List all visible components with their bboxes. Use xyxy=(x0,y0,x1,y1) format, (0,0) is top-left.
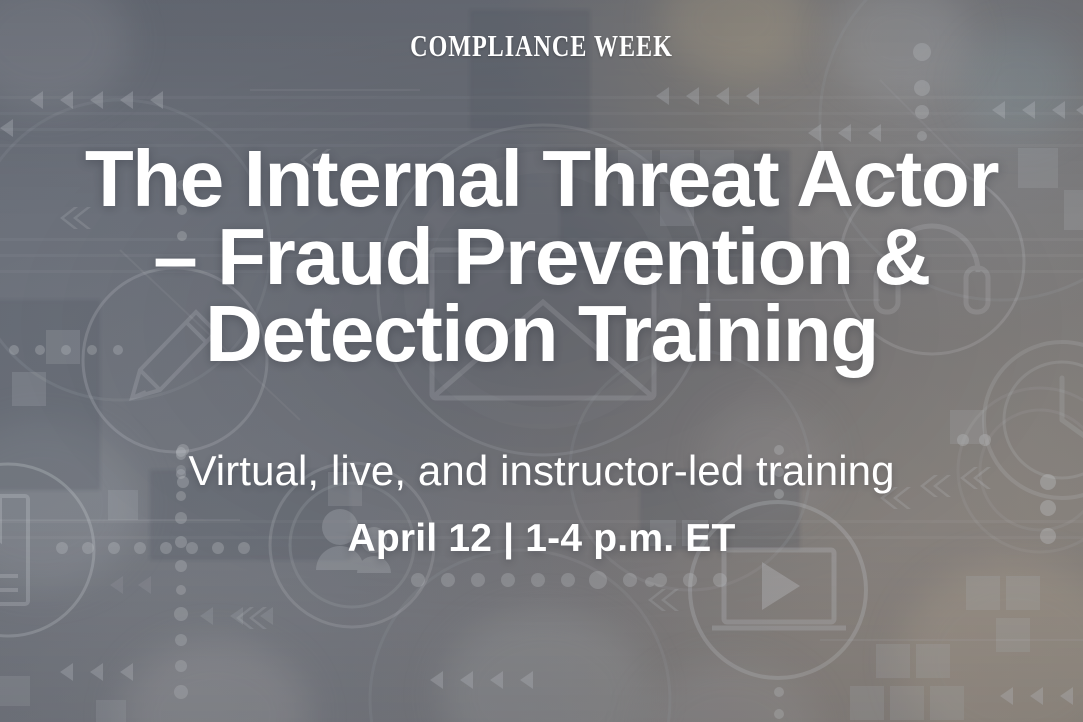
subtitle-text: Virtual, live, and instructor-led traini… xyxy=(188,447,894,495)
title-line-3: Detection Training xyxy=(22,295,1062,373)
title-line-1: The Internal Threat Actor xyxy=(22,140,1062,218)
event-date-time: April 12 | 1-4 p.m. ET xyxy=(347,517,735,561)
page-title: The Internal Threat Actor – Fraud Preven… xyxy=(22,140,1062,373)
banner-content: COMPLIANCE WEEK The Internal Threat Acto… xyxy=(0,0,1083,722)
webinar-promo-banner: COMPLIANCE WEEK The Internal Threat Acto… xyxy=(0,0,1083,722)
compliance-week-logo: COMPLIANCE WEEK xyxy=(410,28,673,64)
title-line-2: – Fraud Prevention & xyxy=(22,218,1062,296)
